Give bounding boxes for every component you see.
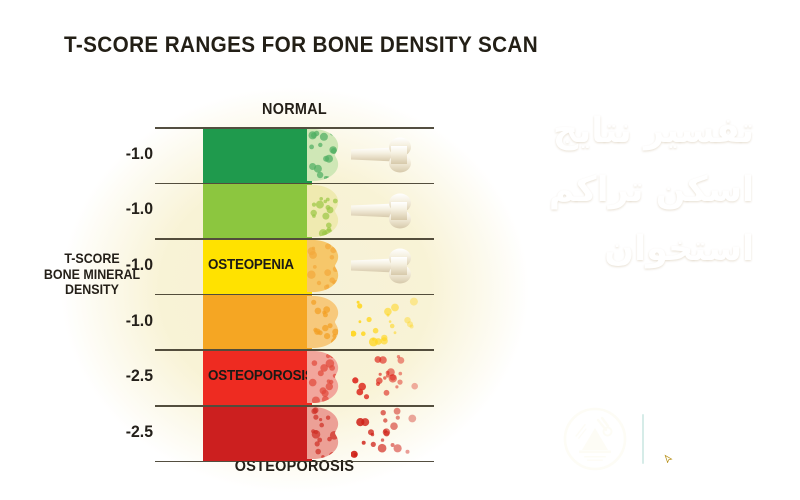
footer-phone-text: 09303445420 [682, 416, 769, 432]
row-tscore-label: -1.0 [112, 255, 153, 275]
poster-canvas: T-SCORE RANGES FOR BONE DENSITY SCAN NOR… [0, 0, 800, 500]
bar-category-label: OSTEOPENIA [208, 257, 294, 273]
bone-porous-cap [307, 238, 355, 294]
chart-gridline [155, 294, 434, 296]
bone-loss-dots [351, 405, 434, 461]
lab-microscope-logo [562, 406, 628, 472]
footer-website-text: drkhalililab.com [682, 446, 791, 462]
chart-gridline [155, 127, 434, 129]
bone-porous-cap [307, 349, 355, 405]
chart-row: -2.5 [155, 405, 434, 461]
chart-row: -2.5OSTEOPOROSIS [155, 349, 434, 405]
chart-gridline [155, 183, 434, 185]
bar-category-label: OSTEOPOROSIS [208, 368, 314, 384]
chart-row: -1.0 [155, 183, 434, 239]
headline-persian: تفسیر نتایج اسکن تراکم استخوان [454, 102, 754, 279]
row-tscore-label: -2.5 [112, 422, 153, 442]
bone-icon [351, 127, 434, 183]
row-bar [203, 184, 312, 238]
chart-top-label: NORMAL [165, 101, 424, 119]
page-title: T-SCORE RANGES FOR BONE DENSITY SCAN [64, 32, 538, 58]
t-score-chart: -1.0-1.0-1.0OSTEOPENIA-1.0-2.5OSTEOPOROS… [155, 127, 434, 461]
bone-icon [351, 238, 434, 294]
bone-porous-cap [307, 183, 355, 239]
bone-loss-dots [351, 349, 434, 405]
bone-porous-cap [307, 127, 355, 183]
headline-line-2: اسکن تراکم [454, 161, 754, 220]
row-bar [203, 407, 312, 461]
row-bar [203, 295, 312, 349]
globe-cursor-icon [654, 444, 673, 463]
bone-porous-cap [307, 405, 355, 461]
row-tscore-label: -1.0 [112, 311, 153, 331]
chart-row: -1.0 [155, 294, 434, 350]
row-tscore-label: -2.5 [112, 366, 153, 386]
bone-icon [351, 183, 434, 239]
phone-icon [654, 414, 673, 433]
footer-contact-bar: 09303445420 drkhalililab.com [556, 400, 792, 482]
row-bar [203, 129, 312, 183]
bone-loss-dots [351, 294, 434, 350]
footer-divider [642, 414, 644, 464]
y-axis-title-line3: DENSITY [40, 282, 144, 298]
chart-row: -1.0OSTEOPENIA [155, 238, 434, 294]
headline-line-3: استخوان [454, 220, 754, 279]
row-tscore-label: -1.0 [112, 199, 153, 219]
chart-gridline [155, 349, 434, 351]
row-tscore-label: -1.0 [112, 144, 153, 164]
bone-porous-cap [307, 294, 355, 350]
footer-website-row[interactable]: drkhalililab.com [654, 444, 796, 463]
headline-line-1: تفسیر نتایج [454, 102, 754, 161]
chart-gridline [155, 238, 434, 240]
chart-gridline [155, 461, 434, 463]
chart-row: -1.0 [155, 127, 434, 183]
chart-gridline [155, 405, 434, 407]
footer-phone-row[interactable]: 09303445420 [654, 414, 773, 433]
